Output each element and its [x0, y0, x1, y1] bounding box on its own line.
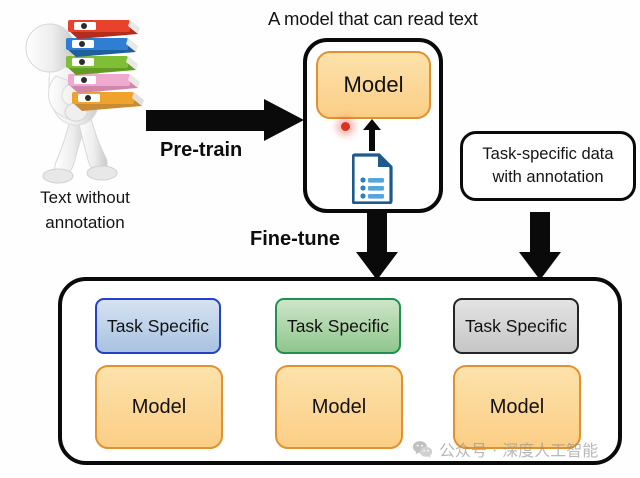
- person-carrying-binders-icon: [10, 6, 155, 186]
- finetuned-model-label-1: Model: [132, 396, 186, 419]
- finetune-label: Fine-tune: [250, 228, 340, 251]
- task-data-down-arrow-icon: [519, 212, 561, 280]
- watermark: 公众号 · 深度人工智能: [412, 437, 598, 461]
- finetuned-model-label-3: Model: [490, 396, 544, 419]
- task-specific-head-1: Task Specific: [95, 298, 221, 354]
- pretrained-model-box: Model: [316, 51, 431, 119]
- diagram-caption: A model that can read text: [268, 8, 478, 30]
- finetuned-model-1: Model: [95, 365, 223, 449]
- pretrained-model-label: Model: [344, 72, 404, 98]
- task-specific-head-3: Task Specific: [453, 298, 579, 354]
- task-specific-label-3: Task Specific: [465, 315, 567, 337]
- wechat-icon: [412, 439, 433, 460]
- pretrain-right-arrow-icon: [146, 99, 304, 141]
- pretrain-label: Pre-train: [160, 139, 242, 162]
- finetuned-model-label-2: Model: [312, 396, 366, 419]
- document-to-model-up-arrow-icon: [363, 119, 381, 151]
- finetuned-model-2: Model: [275, 365, 403, 449]
- document-icon: [352, 152, 394, 204]
- task-specific-label-2: Task Specific: [287, 315, 389, 337]
- finetune-down-arrow-icon: [356, 212, 398, 280]
- task-specific-data-label: Task-specific data with annotation: [463, 143, 633, 189]
- source-data-label: Text without annotation: [5, 185, 165, 235]
- task-specific-head-2: Task Specific: [275, 298, 401, 354]
- watermark-text: 公众号 · 深度人工智能: [439, 437, 598, 461]
- diagram-canvas: Text without annotation Pre-train A mode…: [0, 0, 640, 478]
- task-specific-data-box: Task-specific data with annotation: [460, 131, 636, 201]
- task-specific-label-1: Task Specific: [107, 315, 209, 337]
- red-dot-icon: [341, 122, 350, 131]
